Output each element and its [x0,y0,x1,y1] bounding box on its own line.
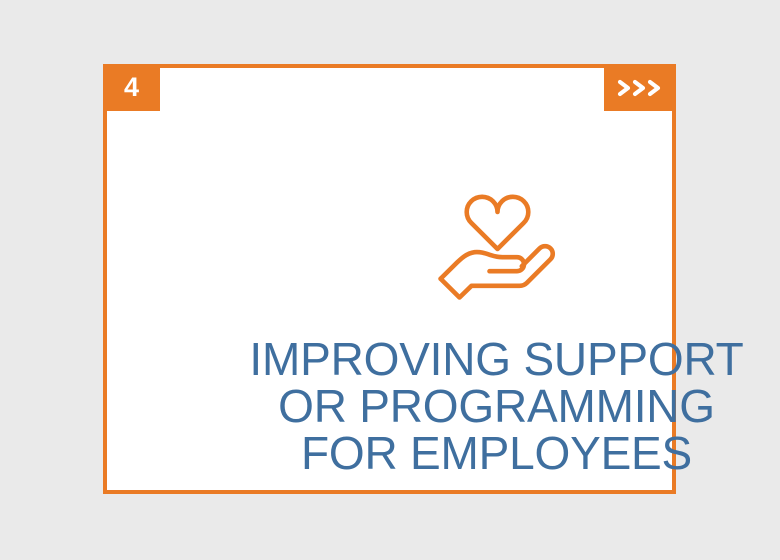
step-number-value: 4 [124,74,139,101]
slide-canvas: IMPROVING SUPPORT OR PROGRAMMING FOR EMP… [0,0,780,560]
headline-line-2: OR PROGRAMMING [220,383,773,430]
chevron-1 [620,82,628,94]
heart-shape [467,197,529,249]
headline-line-3: FOR EMPLOYEES [220,430,773,477]
page-title: IMPROVING SUPPORT OR PROGRAMMING FOR EMP… [220,336,773,477]
hand-palm-upper [441,252,524,279]
step-number-badge: 4 [103,64,160,111]
chevron-2 [635,82,643,94]
next-chevrons-button[interactable] [604,64,676,111]
triple-chevron-right-icon [617,78,663,98]
headline-line-1: IMPROVING SUPPORT [220,336,773,383]
content-card: IMPROVING SUPPORT OR PROGRAMMING FOR EMP… [103,64,676,494]
chevron-3 [650,82,658,94]
heart-in-hand-icon [438,187,557,305]
